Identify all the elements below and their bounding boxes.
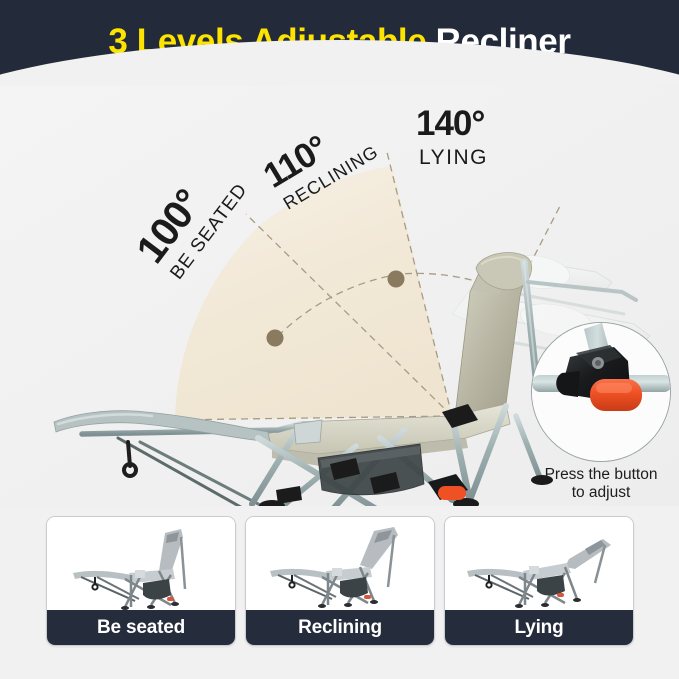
thumbnail-card-reclining[interactable]: Reclining [245,516,435,646]
callout-detail-image [532,323,671,462]
callout-caption-line2: to adjust [572,484,631,501]
thumbnail-label-lying: Lying [444,610,634,646]
callout-caption-line1: Press the button [545,466,658,483]
thumbnail-label-be-seated: Be seated [46,610,236,646]
thumbnail-image-lying [445,517,633,612]
angle-label-140: 140° LYING [416,106,488,168]
thumbnail-image-reclining [246,517,434,612]
thumbnail-label-reclining: Reclining [245,610,435,646]
position-thumbnails: Be seated [0,516,679,651]
callout-caption: Press the button to adjust [525,466,677,502]
angle-140-name: LYING [419,147,488,168]
button-callout: Press the button to adjust [531,322,671,462]
callout-circle [531,322,671,462]
product-infographic: 3 Levels Adjustable Recliner [0,0,679,679]
orange-release-button [590,379,642,411]
header-banner: 3 Levels Adjustable Recliner [0,0,679,86]
thumbnail-image-be-seated [47,517,235,612]
thumbnail-card-be-seated[interactable]: Be seated [46,516,236,646]
angle-140-degrees: 140° [416,106,488,141]
thumbnail-card-lying[interactable]: Lying [444,516,634,646]
